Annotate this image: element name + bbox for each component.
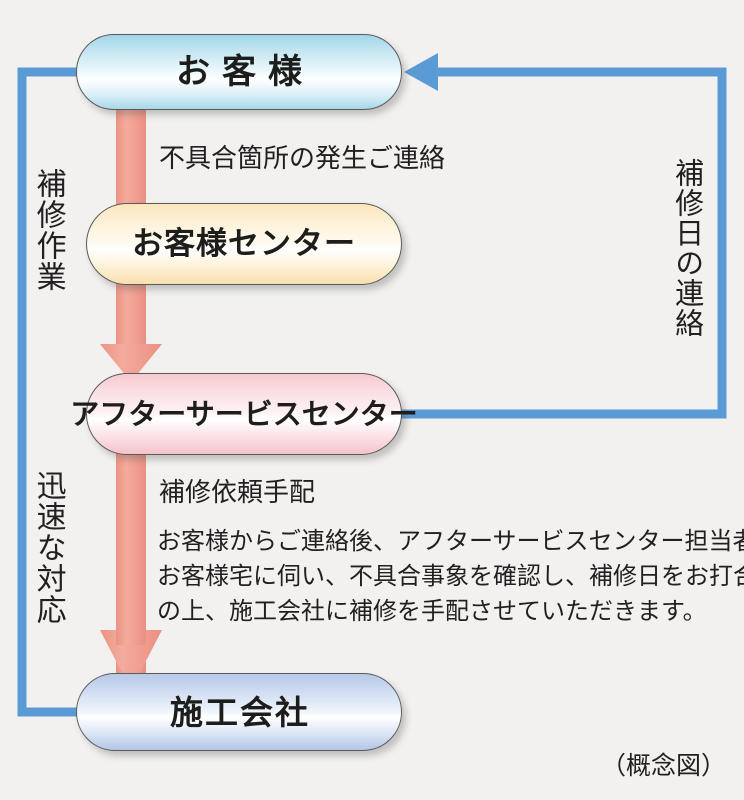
node-after-service-center[interactable]: アフターサービスセンター bbox=[86, 373, 402, 455]
vertical-caption-repair-work: 補修作業 bbox=[32, 168, 63, 292]
node-customer-center-label: お客様センター bbox=[132, 229, 356, 260]
description-paragraph: お客様からご連絡後、アフターサービスセンター担当者が お客様宅に伺い、不具合事象… bbox=[157, 524, 737, 629]
description-line-1: お客様からご連絡後、アフターサービスセンター担当者が bbox=[157, 524, 737, 559]
description-line-2: お客様宅に伺い、不具合事象を確認し、補修日をお打合せ bbox=[157, 559, 737, 594]
flow-diagram: お客様 お客様センター アフターサービスセンター 施工会社 不具合箇所の発生ご連… bbox=[0, 0, 744, 800]
node-customer[interactable]: お客様 bbox=[76, 34, 402, 110]
vertical-caption-fast-response: 迅速な対応 bbox=[32, 470, 63, 625]
caption-defect-report: 不具合箇所の発生ご連絡 bbox=[159, 138, 445, 175]
node-customer-center[interactable]: お客様センター bbox=[86, 203, 402, 285]
vertical-caption-repair-date: 補修日の連絡 bbox=[672, 158, 702, 338]
node-customer-label: お客様 bbox=[164, 55, 314, 89]
description-line-3: の上、施工会社に補修を手配させていただきます。 bbox=[157, 594, 737, 629]
node-construction-company-label: 施工会社 bbox=[168, 696, 310, 729]
node-construction-company[interactable]: 施工会社 bbox=[76, 673, 402, 751]
caption-repair-arrangement: 補修依頼手配 bbox=[159, 472, 315, 509]
figure-note: （概念図） bbox=[601, 746, 726, 782]
node-after-service-center-label: アフターサービスセンター bbox=[70, 400, 417, 429]
